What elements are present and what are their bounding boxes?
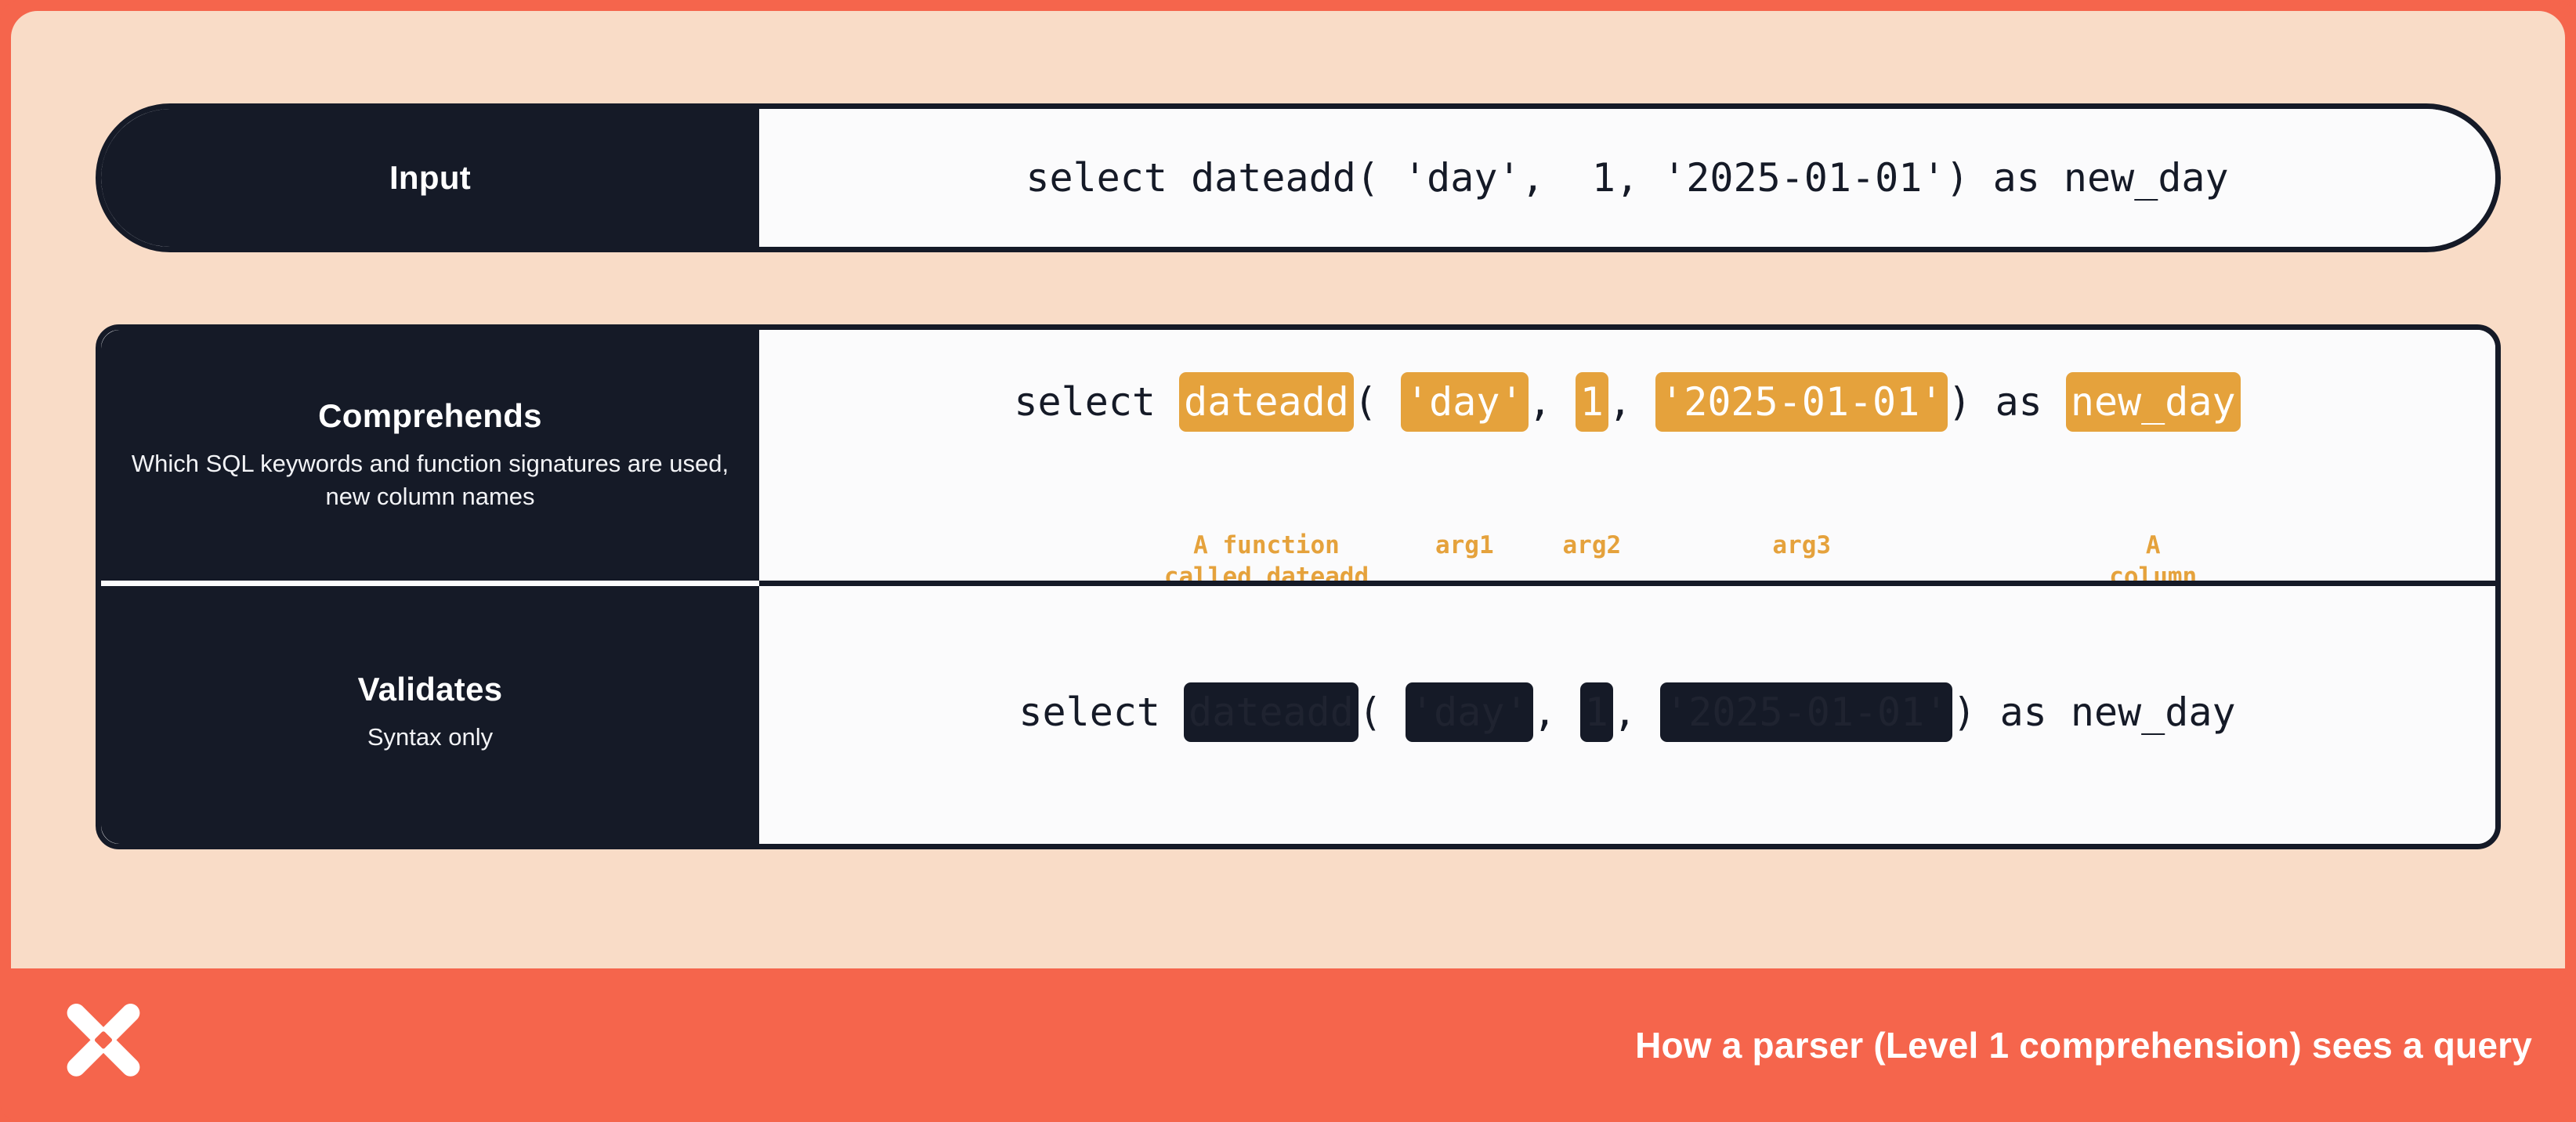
comprehends-label: Comprehends — [318, 397, 542, 435]
comprehends-code-token-1: dateadd — [1179, 372, 1354, 432]
validates-label: Validates — [358, 671, 503, 708]
validates-code-token-7: '2025-01-01' — [1660, 682, 1952, 742]
footer-bar: How a parser (Level 1 comprehension) see… — [0, 968, 2576, 1122]
row-divider-gap — [101, 581, 759, 586]
diagram-poster: Input select dateadd( 'day', 1, '2025-01… — [0, 0, 2576, 1122]
comprehends-code-token-6: , — [1608, 382, 1655, 422]
comprehends-code-token-8: ) as — [1948, 382, 2066, 422]
comprehends-code-token-7: '2025-01-01' — [1655, 372, 1948, 432]
input-row-code-cell: select dateadd( 'day', 1, '2025-01-01') … — [759, 109, 2495, 247]
comprehends-code-token-9: new_day — [2066, 372, 2241, 432]
footer-caption: How a parser (Level 1 comprehension) see… — [1635, 1024, 2532, 1066]
input-row-label-cell: Input — [101, 109, 759, 247]
comprehends-code-token-3: 'day' — [1401, 372, 1529, 432]
validates-code-token-8: ) as — [1952, 693, 2071, 732]
validates-code-token-3: 'day' — [1406, 682, 1533, 742]
comprehends-sublabel: Which SQL keywords and function signatur… — [128, 447, 733, 513]
validates-code-cell: select dateadd( 'day', 1, '2025-01-01') … — [759, 581, 2495, 844]
comprehends-code-token-2: ( — [1354, 382, 1401, 422]
body-panel: Input select dateadd( 'day', 1, '2025-01… — [11, 11, 2565, 968]
comprehends-row: Comprehends Which SQL keywords and funct… — [101, 330, 2495, 581]
comprehends-label-cell: Comprehends Which SQL keywords and funct… — [101, 330, 759, 581]
validates-row: Validates Syntax only select dateadd( 'd… — [101, 581, 2495, 844]
validates-code-token-9: new_day — [2071, 693, 2236, 732]
input-code-token-5: 1 — [1592, 158, 1615, 197]
input-code-token-1: dateadd — [1191, 158, 1356, 197]
comprehends-code-stack: select dateadd( 'day', 1, '2025-01-01') … — [1014, 324, 2240, 617]
validates-code-token-0: select — [1018, 693, 1184, 732]
validates-code-line: select dateadd( 'day', 1, '2025-01-01') … — [1018, 604, 2235, 820]
comprehends-annotation-2: arg1 — [1435, 530, 1494, 562]
comprehends-code-cell: select dateadd( 'day', 1, '2025-01-01') … — [759, 330, 2495, 581]
comprehends-code-token-0: select — [1014, 382, 1179, 422]
input-code-token-0: select — [1026, 158, 1191, 197]
validates-code-token-6: , — [1613, 693, 1660, 732]
input-code-token-3: 'day' — [1403, 158, 1521, 197]
input-code-token-7: '2025-01-01' — [1662, 158, 1945, 197]
comprehends-code-line: select dateadd( 'day', 1, '2025-01-01') … — [1014, 324, 2240, 510]
x-star-logo-icon — [52, 994, 155, 1097]
lower-card: Comprehends Which SQL keywords and funct… — [96, 324, 2501, 849]
validates-sublabel: Syntax only — [367, 721, 493, 754]
comprehends-code-token-4: , — [1529, 382, 1576, 422]
input-row: Input select dateadd( 'day', 1, '2025-01… — [96, 103, 2501, 252]
validates-label-cell: Validates Syntax only — [101, 581, 759, 844]
validates-code-token-1: dateadd — [1184, 682, 1359, 742]
validates-code-token-5: 1 — [1580, 682, 1613, 742]
input-code-token-2: ( — [1356, 158, 1403, 197]
input-code-token-6: , — [1615, 158, 1662, 197]
comprehends-annotation-4: arg3 — [1772, 530, 1831, 562]
validates-code-token-2: ( — [1359, 693, 1406, 732]
comprehends-code-token-5: 1 — [1576, 372, 1608, 432]
comprehends-annotation-3: arg2 — [1563, 530, 1622, 562]
input-code-token-9: new_day — [2064, 158, 2229, 197]
input-code-token-4: , — [1521, 158, 1592, 197]
input-code-token-8: ) as — [1945, 158, 2064, 197]
input-code-line: select dateadd( 'day', 1, '2025-01-01') … — [1026, 103, 2228, 252]
validates-code-token-4: , — [1533, 693, 1580, 732]
input-row-label: Input — [389, 159, 471, 197]
